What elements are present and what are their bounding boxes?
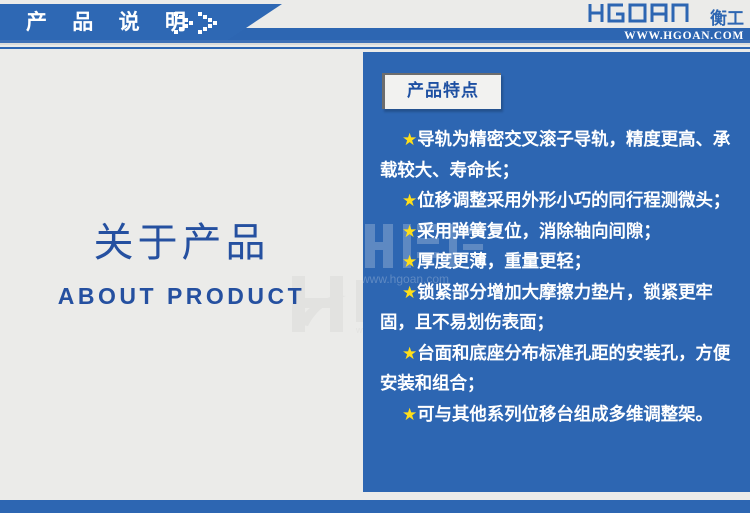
list-item: ★采用弹簧复位，消除轴向间隙； <box>380 217 736 248</box>
double-chevron-right-icon <box>172 8 242 36</box>
about-title-cn: 关于产品 <box>0 217 363 269</box>
feature-text: 台面和底座分布标准孔距的安装孔，方便安装和组合； <box>380 344 730 395</box>
footer-bar <box>0 500 750 513</box>
feature-text: 导轨为精密交叉滚子导轨，精度更高、承载较大、寿命长； <box>380 130 730 181</box>
feature-text: 厚度更薄，重量更轻； <box>417 252 591 272</box>
star-icon: ★ <box>402 405 417 425</box>
logo-chinese-name: 衡工 <box>710 11 744 28</box>
features-list: ★导轨为精密交叉滚子导轨，精度更高、承载较大、寿命长； ★位移调整采用外形小巧的… <box>380 125 736 430</box>
feature-text: 可与其他系列位移台组成多维调整架。 <box>417 405 713 425</box>
list-item: ★锁紧部分增加大摩擦力垫片，锁紧更牢固，且不易划伤表面； <box>380 278 736 339</box>
star-icon: ★ <box>402 252 417 272</box>
about-title-en: ABOUT PRODUCT <box>0 283 363 309</box>
list-item: ★台面和底座分布标准孔距的安装孔，方便安装和组合； <box>380 339 736 400</box>
about-product-panel: www. 关于产品 ABOUT PRODUCT <box>0 52 363 492</box>
hgoan-wordmark-icon <box>588 3 706 28</box>
product-description-banner: 产 品 说 明 <box>0 0 750 513</box>
list-item: ★厚度更薄，重量更轻； <box>380 247 736 278</box>
about-block: 关于产品 ABOUT PRODUCT <box>0 217 363 309</box>
star-icon: ★ <box>402 191 417 211</box>
feature-text: 采用弹簧复位，消除轴向间隙； <box>417 222 660 242</box>
features-tag: 产品特点 <box>382 73 501 109</box>
page-title: 产 品 说 明 <box>26 6 195 38</box>
footer-gap <box>0 492 750 500</box>
product-features-panel: www.hgoan.com 产品特点 ★导轨为精密交叉滚子导轨，精度更高、承载较… <box>363 52 750 492</box>
logo-website-url: WWW.HGOAN.COM <box>572 29 744 43</box>
star-icon: ★ <box>402 130 417 150</box>
features-tag-label: 产品特点 <box>385 75 501 108</box>
star-icon: ★ <box>402 283 417 303</box>
page-header: 产 品 说 明 <box>0 0 750 52</box>
brand-logo[interactable]: 衡工 WWW.HGOAN.COM <box>572 6 744 46</box>
star-icon: ★ <box>402 344 417 364</box>
feature-text: 锁紧部分增加大摩擦力垫片，锁紧更牢固，且不易划伤表面； <box>380 283 713 334</box>
list-item: ★导轨为精密交叉滚子导轨，精度更高、承载较大、寿命长； <box>380 125 736 186</box>
header-underline-secondary <box>0 47 750 49</box>
svg-text:www.: www. <box>355 325 363 335</box>
list-item: ★可与其他系列位移台组成多维调整架。 <box>380 400 736 431</box>
feature-text: 位移调整采用外形小巧的同行程测微头； <box>417 191 730 211</box>
list-item: ★位移调整采用外形小巧的同行程测微头； <box>380 186 736 217</box>
star-icon: ★ <box>402 222 417 242</box>
